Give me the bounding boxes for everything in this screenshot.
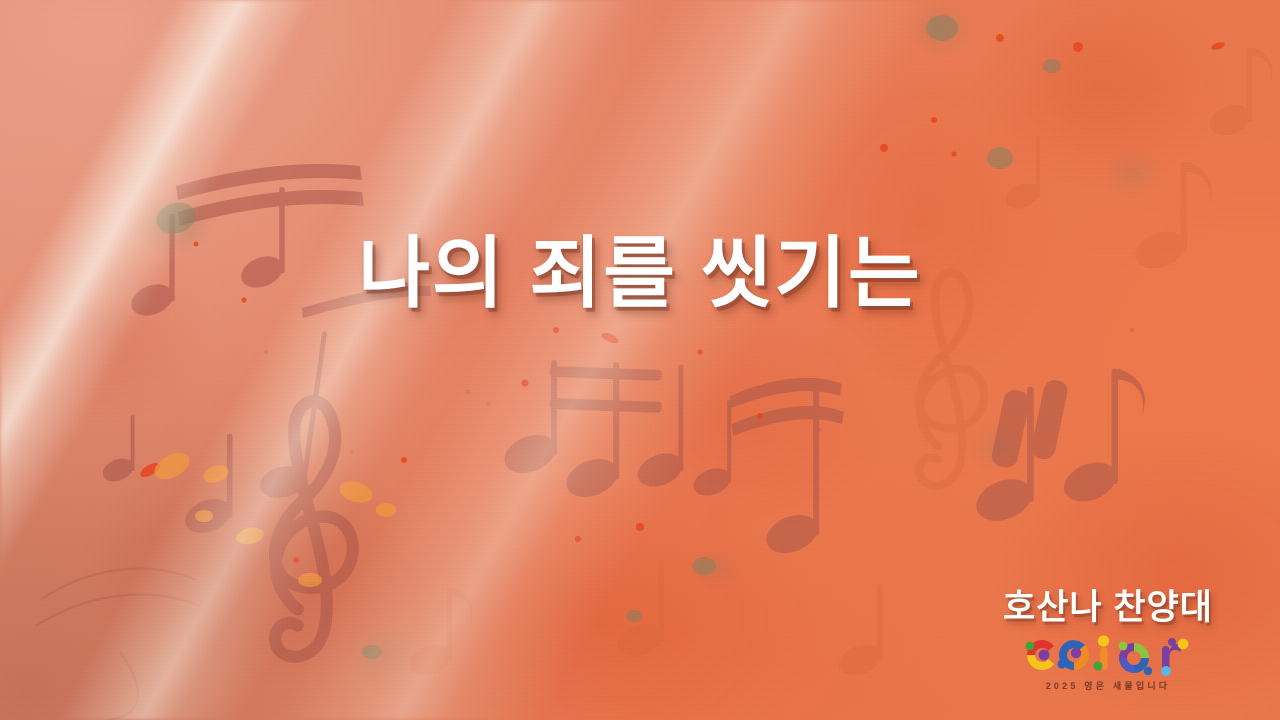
paint-splatter bbox=[0, 0, 1280, 720]
paper-grain bbox=[0, 0, 1280, 720]
lyric-line-container: 나의 죄를 씻기는 bbox=[0, 232, 1280, 315]
choir-logo: 호산나 찬양대 bbox=[958, 589, 1258, 692]
vignette bbox=[0, 0, 1280, 720]
wordmark-letter-c bbox=[1026, 640, 1054, 670]
wordmark-letter-r bbox=[1161, 638, 1188, 676]
wordmark-letter-o1 bbox=[1057, 640, 1089, 670]
logo-tagline: 2025 영은 새물입니다 bbox=[958, 679, 1258, 692]
music-notes-watermark bbox=[0, 0, 1280, 720]
wordmark-letter-l bbox=[1093, 635, 1109, 670]
background-stains bbox=[0, 0, 1280, 720]
lyric-line: 나의 죄를 씻기는 bbox=[358, 232, 922, 315]
color-wordmark bbox=[958, 633, 1258, 677]
background-smudges bbox=[0, 0, 1280, 720]
choir-name: 호산나 찬양대 bbox=[958, 589, 1258, 627]
diagonal-light-rays bbox=[0, 0, 1280, 720]
lyric-slide: 나의 죄를 씻기는 호산나 찬양대 bbox=[0, 0, 1280, 720]
wordmark-letter-o2 bbox=[1119, 642, 1153, 676]
background-wash bbox=[0, 0, 1280, 720]
